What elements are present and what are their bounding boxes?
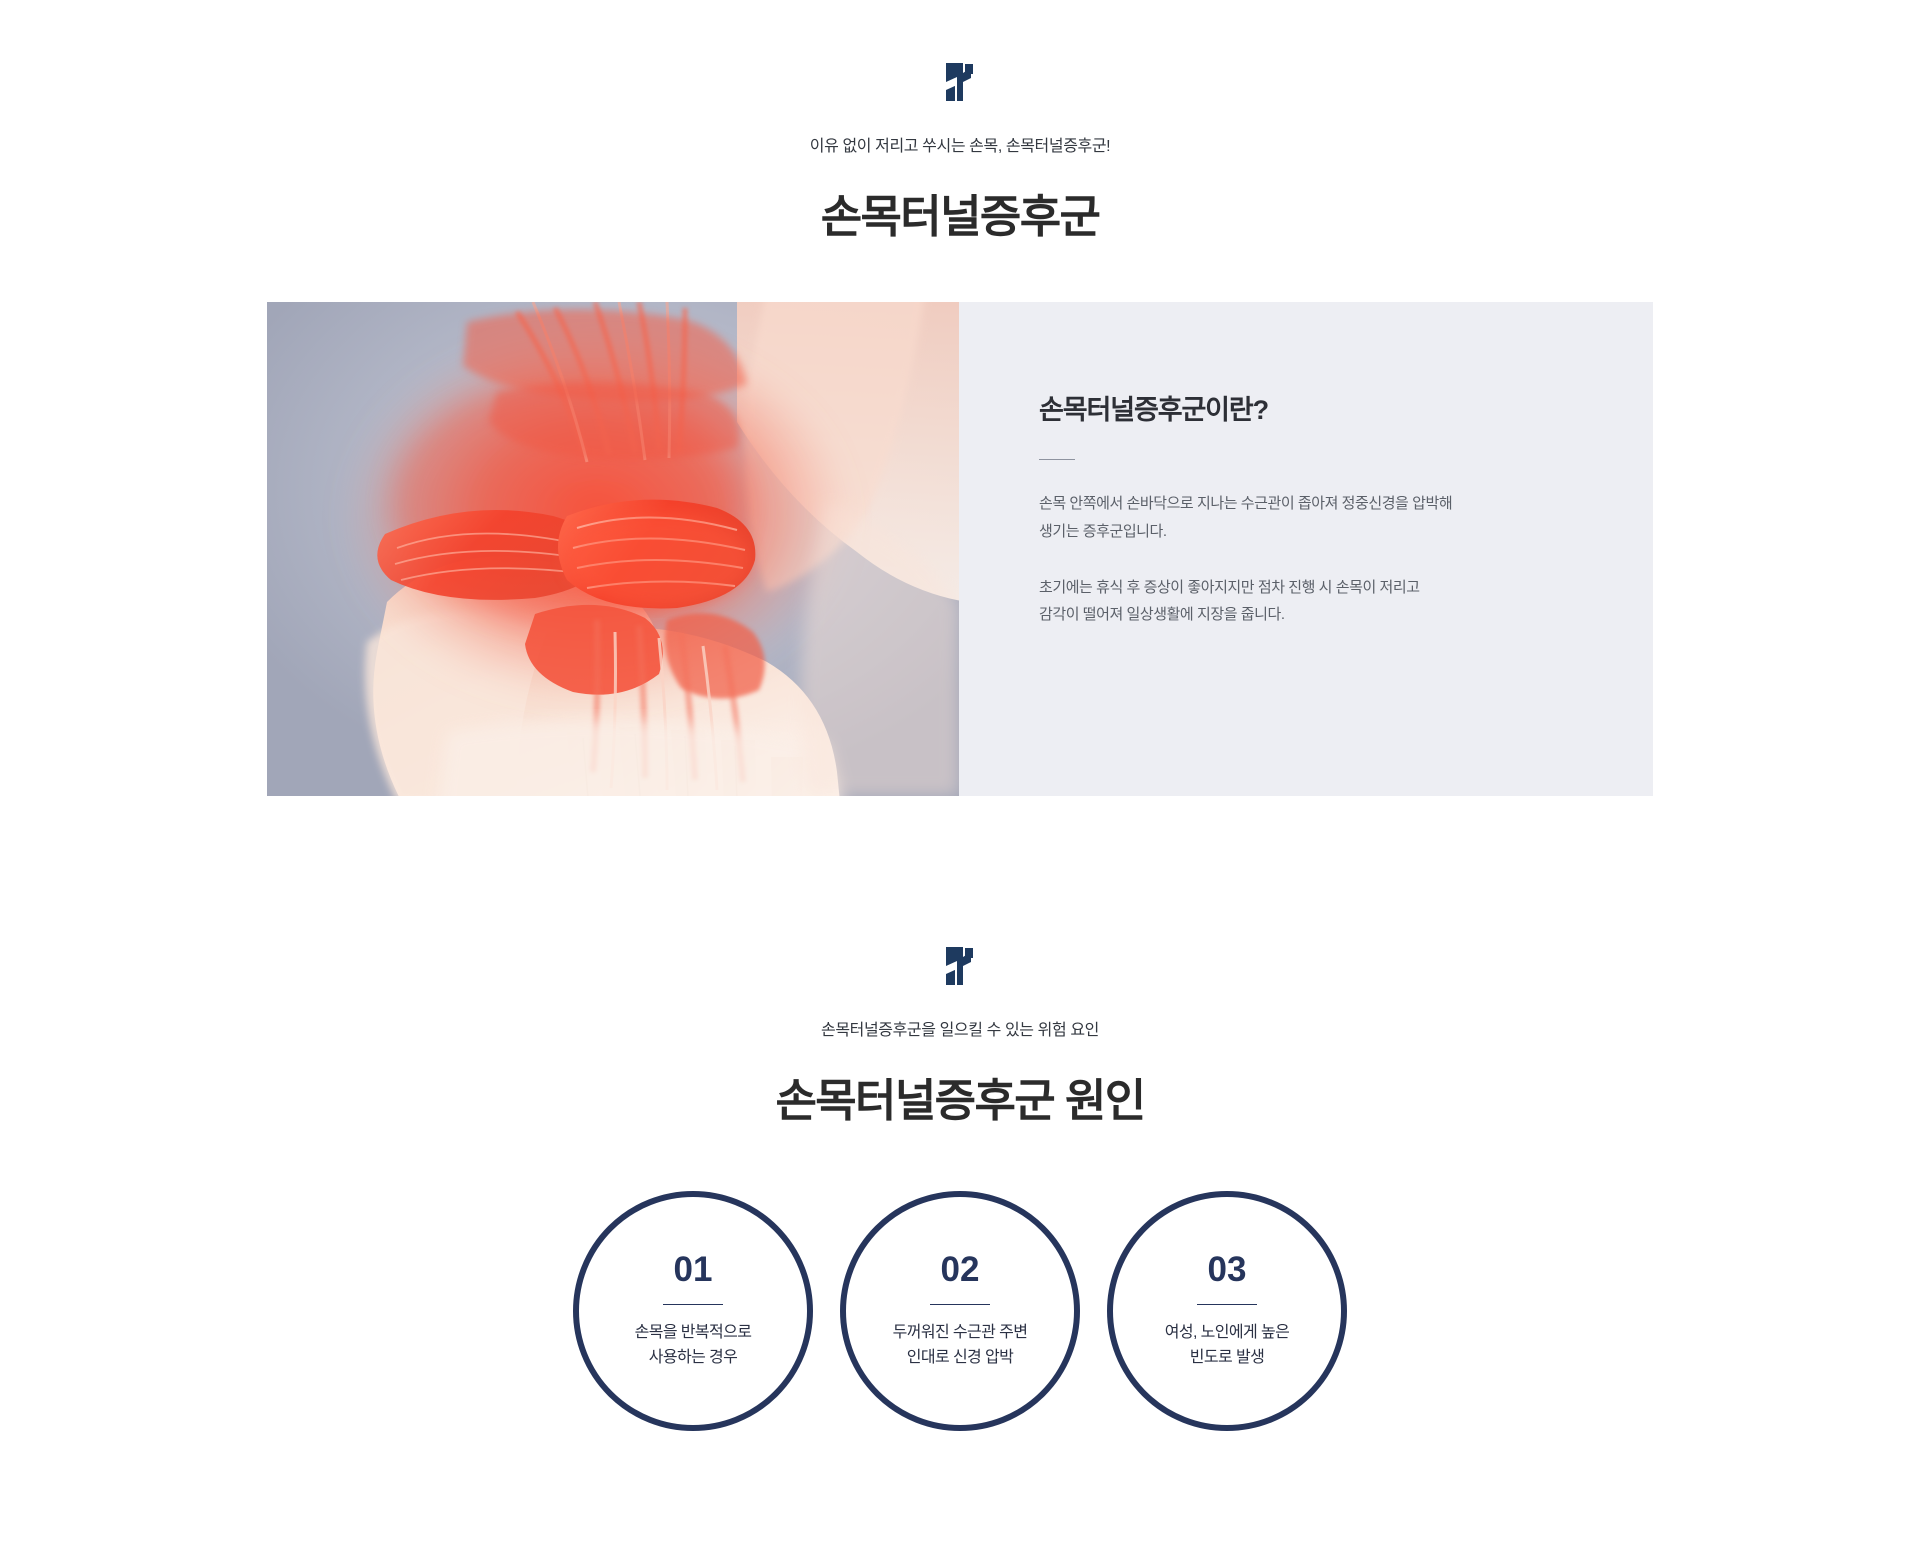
section-two-title: 손목터널증후군 원인 [0,1064,1920,1129]
cause-divider [663,1304,723,1305]
page-root: 이유 없이 저리고 쑤시는 손목, 손목터널증후군! 손목터널증후군 [0,0,1920,1551]
cause-number: 02 [941,1252,980,1287]
cause-circle-01: 01 손목을 반복적으로 사용하는 경우 [573,1191,813,1431]
brand-logo [0,60,1920,104]
intro-paragraph-1: 손목 안쪽에서 손바닥으로 지나는 수근관이 좁아져 정중신경을 압박해 생기는… [1039,490,1653,546]
section-one-eyebrow: 이유 없이 저리고 쑤시는 손목, 손목터널증후군! [0,132,1920,156]
cause-circle-list: 01 손목을 반복적으로 사용하는 경우 02 두꺼워진 수근관 주변 인대로 … [0,1191,1920,1431]
cause-label: 손목을 반복적으로 사용하는 경우 [635,1321,752,1371]
section-causes: 손목터널증후군을 일으킬 수 있는 위험 요인 손목터널증후군 원인 01 손목… [0,796,1920,1551]
cause-divider [930,1304,990,1305]
cause-divider [1197,1304,1257,1305]
wrist-anatomy-graphic [267,302,959,796]
section-one-title: 손목터널증후군 [0,180,1920,245]
intro-panel: 손목터널증후군이란? 손목 안쪽에서 손바닥으로 지나는 수근관이 좁아져 정중… [267,302,1653,796]
cause-circle-02: 02 두꺼워진 수근관 주변 인대로 신경 압박 [840,1191,1080,1431]
section-two-eyebrow: 손목터널증후군을 일으킬 수 있는 위험 요인 [0,1016,1920,1040]
cause-number: 03 [1208,1252,1247,1287]
cause-number: 01 [674,1252,713,1287]
intro-card-heading: 손목터널증후군이란? [1039,388,1653,427]
h-monogram-logo-icon [943,60,977,104]
cause-label: 여성, 노인에게 높은 빈도로 발생 [1165,1321,1290,1371]
intro-paragraph-2: 초기에는 휴식 후 증상이 좋아지지만 점차 진행 시 손목이 저리고 감각이 … [1039,574,1653,630]
section-intro: 이유 없이 저리고 쑤시는 손목, 손목터널증후군! 손목터널증후군 [0,0,1920,796]
brand-logo-secondary [0,944,1920,988]
intro-card: 손목터널증후군이란? 손목 안쪽에서 손바닥으로 지나는 수근관이 좁아져 정중… [959,302,1653,796]
cause-label: 두꺼워진 수근관 주변 인대로 신경 압박 [893,1321,1028,1371]
wrist-anatomy-illustration [267,302,959,796]
cause-circle-03: 03 여성, 노인에게 높은 빈도로 발생 [1107,1191,1347,1431]
h-monogram-logo-icon [943,944,977,988]
heading-divider [1039,459,1075,460]
